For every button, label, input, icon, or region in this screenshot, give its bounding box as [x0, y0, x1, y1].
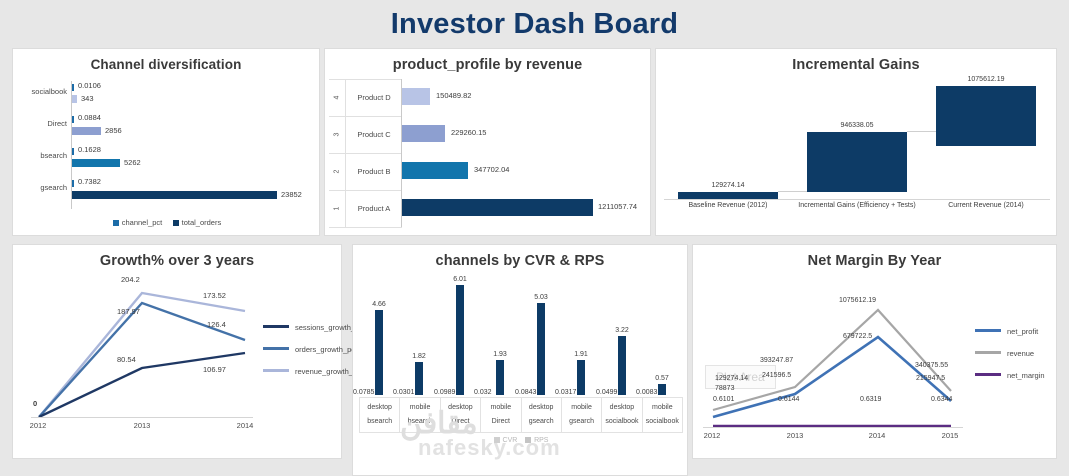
bar-row: 1 Product A 1211057.74 [325, 190, 652, 227]
x-tick-label: 2014 [852, 431, 902, 440]
bar-channel-pct [72, 148, 74, 155]
device-label: desktop [529, 401, 554, 415]
x-axis-line [703, 427, 963, 428]
bar-rps [577, 360, 585, 395]
cvr-rps-plot: 4.66 0.0785 1.82 0.0301 6.01 0.0989 1.93… [359, 275, 683, 395]
x-tick-label: 2013 [770, 431, 820, 440]
chart-title-product-profile: product_profile by revenue [325, 49, 650, 73]
bar-row: gsearch 0.7382 23852 [13, 177, 321, 209]
bar-total-orders [72, 127, 101, 135]
legend-line-icon [975, 351, 1001, 354]
device-label: desktop [367, 401, 392, 415]
data-label-net-profit-2014: 679722.5 [843, 333, 872, 340]
legend-item-rps: RPS [525, 437, 548, 444]
data-label-sessions-2014: 106.97 [203, 365, 226, 374]
data-label-revenue-2015: 340375.55 [915, 362, 948, 369]
x-tick-cell: desktopDirect [440, 397, 480, 433]
value-label-channel-pct: 0.7382 [78, 177, 101, 186]
product-profile-plot: 4 Product D 150489.82 3 Product C 229260… [325, 79, 652, 229]
bar-rps [415, 362, 423, 395]
device-label: mobile [491, 401, 512, 415]
value-label-total-orders: 2856 [105, 126, 122, 135]
value-label-cvr: 0.032 [474, 389, 492, 396]
bar-total-orders [72, 159, 120, 167]
data-label-net-margin-2014: 0.6319 [860, 396, 881, 403]
data-label-net-margin-2012: 0.6101 [713, 396, 734, 403]
channel-label: gsearch [529, 415, 554, 429]
bar-group: 1.91 0.0317 [561, 275, 601, 395]
legend-line-icon [975, 373, 1001, 376]
data-label-revenue-2013: 204.2 [121, 275, 140, 284]
value-label: 229260.15 [451, 128, 486, 137]
value-label-gains: 946338.05 [797, 122, 917, 129]
value-label-total-orders: 5262 [124, 158, 141, 167]
legend-swatch-icon [525, 437, 531, 443]
dashboard-grid: Channel diversification socialbook 0.010… [0, 44, 1069, 463]
data-label-revenue-2013: 393247.87 [760, 357, 793, 364]
chart-legend-channel-diversification: channel_pct total_orders [13, 218, 321, 227]
data-label-net-profit-2012: 78873 [715, 385, 734, 392]
bar-group: 6.01 0.0989 [440, 275, 480, 395]
net-margin-line-svg [703, 277, 963, 427]
x-tick-label: 2015 [925, 431, 975, 440]
legend-label: net_margin [1007, 371, 1045, 380]
data-label-revenue-2014: 173.52 [203, 291, 226, 300]
waterfall-bar-current [936, 86, 1036, 146]
legend-item-orders-growth-pct: orders_growth_pct [263, 345, 365, 354]
category-label: socialbook [13, 87, 67, 96]
axis-index: 2 [329, 153, 345, 191]
bar-total-orders [72, 191, 277, 199]
channel-label: Direct [451, 415, 469, 429]
x-tick-cell: mobileDirect [480, 397, 520, 433]
legend-swatch-icon [173, 220, 179, 226]
x-tick-label: 2014 [220, 421, 270, 430]
x-tick-label: Baseline Revenue (2012) [656, 202, 800, 209]
axis-index: 1 [329, 190, 345, 228]
chart-panel-channel-diversification[interactable]: Channel diversification socialbook 0.010… [12, 48, 320, 236]
legend-item-cvr: CVR [494, 437, 518, 444]
legend-label: RPS [534, 437, 548, 444]
category-label: gsearch [13, 183, 67, 192]
value-label-total-orders: 343 [81, 94, 94, 103]
value-label-rps: 3.22 [602, 327, 642, 334]
bar-group: 1.82 0.0301 [399, 275, 439, 395]
bar-rps [658, 384, 666, 395]
value-label-cvr: 0.0785 [353, 389, 374, 396]
x-tick-cell: desktopbsearch [359, 397, 399, 433]
waterfall-connector [907, 131, 936, 132]
value-label-cvr: 0.0843 [515, 389, 536, 396]
value-label-rps: 1.82 [399, 353, 439, 360]
chart-title-incremental-gains: Incremental Gains [656, 49, 1056, 73]
category-label: Product B [345, 153, 402, 191]
bar-rps [618, 336, 626, 395]
legend-swatch-icon [494, 437, 500, 443]
category-label: Product D [345, 79, 402, 117]
bar-rps [456, 285, 464, 395]
chart-panel-incremental-gains[interactable]: Incremental Gains 129274.14 946338.05 10… [655, 48, 1057, 236]
value-label: 347702.04 [474, 165, 509, 174]
incremental-gains-plot: 129274.14 946338.05 1075612.19 [664, 79, 1050, 199]
data-label-net-profit-2013: 241596.5 [762, 372, 791, 379]
category-label: bsearch [13, 151, 67, 160]
data-label-orders-2013: 187.97 [117, 307, 140, 316]
axis-index: 3 [329, 116, 345, 154]
value-label: 150489.82 [436, 91, 471, 100]
x-tick-cell: desktopgsearch [521, 397, 561, 433]
bar-row: socialbook 0.0106 343 [13, 81, 321, 113]
device-label: desktop [448, 401, 473, 415]
bar-row: 2 Product B 347702.04 [325, 153, 652, 190]
bar-row: 3 Product C 229260.15 [325, 116, 652, 153]
bar-row: bsearch 0.1628 5262 [13, 145, 321, 177]
value-label-channel-pct: 0.0884 [78, 113, 101, 122]
value-label-rps: 1.91 [561, 351, 601, 358]
data-label-net-margin-2013: 0.6144 [778, 396, 799, 403]
x-tick-cell: mobilegsearch [561, 397, 601, 433]
x-tick-cell: mobilesocialbook [642, 397, 683, 433]
legend-item-net-profit: net_profit [975, 327, 1045, 336]
device-label: mobile [652, 401, 673, 415]
value-label-baseline: 129274.14 [668, 182, 788, 189]
legend-label: net_profit [1007, 327, 1038, 336]
x-tick-label: 2012 [13, 421, 63, 430]
line-sessions-growth-pct [39, 353, 245, 417]
data-label-net-margin-2015: 0.6344 [931, 396, 952, 403]
chart-title-cvr-rps: channels by CVR & RPS [353, 245, 687, 269]
chart-panel-cvr-rps[interactable]: channels by CVR & RPS 4.66 0.0785 1.82 0… [352, 244, 688, 476]
x-tick-label: Current Revenue (2014) [914, 202, 1058, 209]
bar-rps [537, 303, 545, 395]
page-title: Investor Dash Board [0, 0, 1069, 44]
value-label-cvr: 0.0083 [636, 389, 657, 396]
bar-rps [375, 310, 383, 395]
category-label: Product A [345, 190, 402, 228]
bar-channel-pct [72, 84, 74, 91]
legend-item-revenue: revenue [975, 349, 1045, 358]
value-label-channel-pct: 0.1628 [78, 145, 101, 154]
chart-legend-growth: sessions_growth_pct orders_growth_pct re… [263, 323, 365, 389]
value-label: 1211057.74 [598, 202, 637, 211]
legend-item-revenue-growth-pct: revenue_growth_pct [263, 367, 365, 376]
x-tick-cell: desktopsocialbook [601, 397, 641, 433]
bar-group: 1.93 0.032 [480, 275, 520, 395]
channel-label: bsearch [367, 415, 392, 429]
chart-panel-net-margin[interactable]: Net Margin By Year Plot Area 1075612.19 … [692, 244, 1057, 459]
bar-group: 4.66 0.0785 [359, 275, 399, 395]
value-label-current: 1075612.19 [926, 76, 1046, 83]
chart-legend-cvr-rps: CVR RPS [353, 437, 689, 444]
legend-label: total_orders [182, 218, 222, 227]
net-margin-plot: Plot Area 1075612.19 679722.5 393247.87 … [703, 277, 963, 427]
bar-total-orders [72, 95, 77, 103]
legend-swatch-icon [113, 220, 119, 226]
bar-group: 5.03 0.0843 [521, 275, 561, 395]
channel-label: gsearch [569, 415, 594, 429]
legend-line-icon [263, 369, 289, 372]
category-label: Direct [13, 119, 67, 128]
data-label-orders-2014: 126.4 [207, 320, 226, 329]
bar-channel-pct [72, 116, 74, 123]
line-revenue [713, 310, 951, 410]
value-label-channel-pct: 0.0106 [78, 81, 101, 90]
legend-label: revenue [1007, 349, 1034, 358]
data-label-sessions-2013: 80.54 [117, 355, 136, 364]
x-axis-line [31, 417, 253, 418]
value-label-rps: 6.01 [440, 276, 480, 283]
chart-legend-net-margin: net_profit revenue net_margin [975, 327, 1045, 393]
chart-title-growth: Growth% over 3 years [13, 245, 341, 269]
value-label-rps: 4.66 [359, 301, 399, 308]
device-label: mobile [410, 401, 431, 415]
category-label: Product C [345, 116, 402, 154]
device-label: mobile [571, 401, 592, 415]
value-label-rps: 1.93 [480, 351, 520, 358]
legend-line-icon [975, 329, 1001, 332]
data-label-revenue-2012: 129274.14 [715, 375, 748, 382]
bar-product-d [402, 88, 430, 105]
value-label-cvr: 0.0989 [434, 389, 455, 396]
legend-label: channel_pct [122, 218, 162, 227]
legend-line-icon [263, 347, 289, 350]
bar-rps [496, 360, 504, 395]
data-label-zero: 0 [33, 399, 37, 408]
data-label-revenue-2014: 1075612.19 [839, 297, 876, 304]
channel-diversification-plot: socialbook 0.0106 343 Direct 0.0884 2856 [13, 81, 321, 211]
bar-product-b [402, 162, 468, 179]
x-tick-label: Incremental Gains (Efficiency + Tests) [785, 202, 929, 209]
legend-item-channel-pct: channel_pct [113, 218, 162, 227]
x-axis-labels: Baseline Revenue (2012) Incremental Gain… [664, 202, 1050, 216]
waterfall-bar-baseline [678, 192, 778, 199]
legend-item-sessions-growth-pct: sessions_growth_pct [263, 323, 365, 332]
bar-channel-pct [72, 180, 74, 187]
bar-group: 3.22 0.0499 [602, 275, 642, 395]
x-tick-label: 2012 [687, 431, 737, 440]
growth-plot: 0 204.2 187.97 80.54 173.52 126.4 106.97 [31, 277, 253, 417]
value-label-total-orders: 23852 [281, 190, 302, 199]
channel-label: Direct [492, 415, 510, 429]
bar-product-a [402, 199, 593, 216]
bar-row: Direct 0.0884 2856 [13, 113, 321, 145]
data-label-net-profit-2015: 215947.5 [916, 375, 945, 382]
device-label: desktop [610, 401, 635, 415]
x-tick-cell: mobilebsearch [399, 397, 439, 433]
x-tick-label: 2013 [117, 421, 167, 430]
value-label-cvr: 0.0499 [596, 389, 617, 396]
legend-item-net-margin: net_margin [975, 371, 1045, 380]
bar-product-c [402, 125, 445, 142]
line-revenue-growth-pct [39, 293, 245, 417]
bar-group: 0.57 0.0083 [642, 275, 682, 395]
x-axis-line [664, 199, 1050, 200]
legend-label: CVR [503, 437, 518, 444]
waterfall-connector [778, 191, 807, 192]
chart-title-net-margin: Net Margin By Year [693, 245, 1056, 269]
axis-index: 4 [329, 79, 345, 117]
legend-item-total-orders: total_orders [173, 218, 222, 227]
legend-line-icon [263, 325, 289, 328]
channel-label: socialbook [605, 415, 638, 429]
chart-title-channel-diversification: Channel diversification [13, 49, 319, 72]
bar-row: 4 Product D 150489.82 [325, 79, 652, 116]
waterfall-bar-gains [807, 132, 907, 192]
value-label-rps: 0.57 [642, 375, 682, 382]
channel-label: bsearch [408, 415, 433, 429]
value-label-cvr: 0.0301 [393, 389, 414, 396]
channel-label: socialbook [646, 415, 679, 429]
x-axis-category-table: desktopbsearch mobilebsearch desktopDire… [359, 397, 683, 433]
value-label-cvr: 0.0317 [555, 389, 576, 396]
chart-panel-growth[interactable]: Growth% over 3 years 0 204.2 187.97 80.5… [12, 244, 342, 459]
chart-panel-product-profile[interactable]: product_profile by revenue 4 Product D 1… [324, 48, 651, 236]
legend-label: orders_growth_pct [295, 345, 357, 354]
value-label-rps: 5.03 [521, 294, 561, 301]
